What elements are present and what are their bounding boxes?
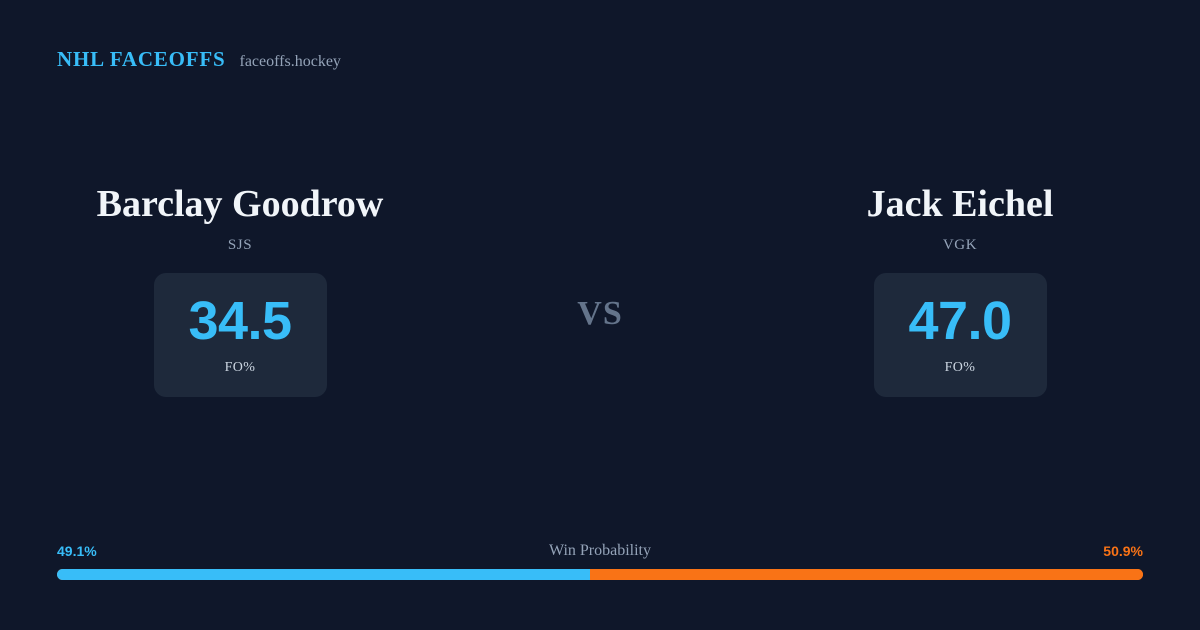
player-left-name: Barclay Goodrow [97, 180, 384, 229]
player-left-stat-label: FO% [225, 360, 256, 376]
win-probability-title: Win Probability [57, 542, 1143, 560]
player-right-team: VGK [943, 237, 977, 254]
player-left-stat-card: 34.5 FO% [154, 273, 327, 397]
vs-label: VS [577, 295, 622, 333]
matchup-graphic: NHL FACEOFFS faceoffs.hockey Barclay Goo… [0, 0, 1200, 630]
player-left-stat-value: 34.5 [188, 294, 291, 348]
win-probability-section: 49.1% Win Probability 50.9% [57, 540, 1143, 580]
header: NHL FACEOFFS faceoffs.hockey [57, 47, 341, 72]
vs-separator: VS [480, 180, 720, 333]
matchup-row: Barclay Goodrow SJS 34.5 FO% VS Jack Eic… [0, 180, 1200, 397]
player-left-team: SJS [228, 237, 252, 254]
win-probability-bar [57, 569, 1143, 580]
brand-domain: faceoffs.hockey [239, 53, 340, 71]
player-left: Barclay Goodrow SJS 34.5 FO% [0, 180, 480, 397]
win-probability-bar-left [57, 569, 590, 580]
player-right: Jack Eichel VGK 47.0 FO% [720, 180, 1200, 397]
player-right-stat-label: FO% [945, 360, 976, 376]
win-probability-labels: 49.1% Win Probability 50.9% [57, 540, 1143, 562]
player-right-stat-value: 47.0 [908, 294, 1011, 348]
win-probability-bar-right [590, 569, 1143, 580]
brand-title: NHL FACEOFFS [57, 47, 225, 72]
player-right-name: Jack Eichel [867, 180, 1054, 229]
player-right-stat-card: 47.0 FO% [874, 273, 1047, 397]
